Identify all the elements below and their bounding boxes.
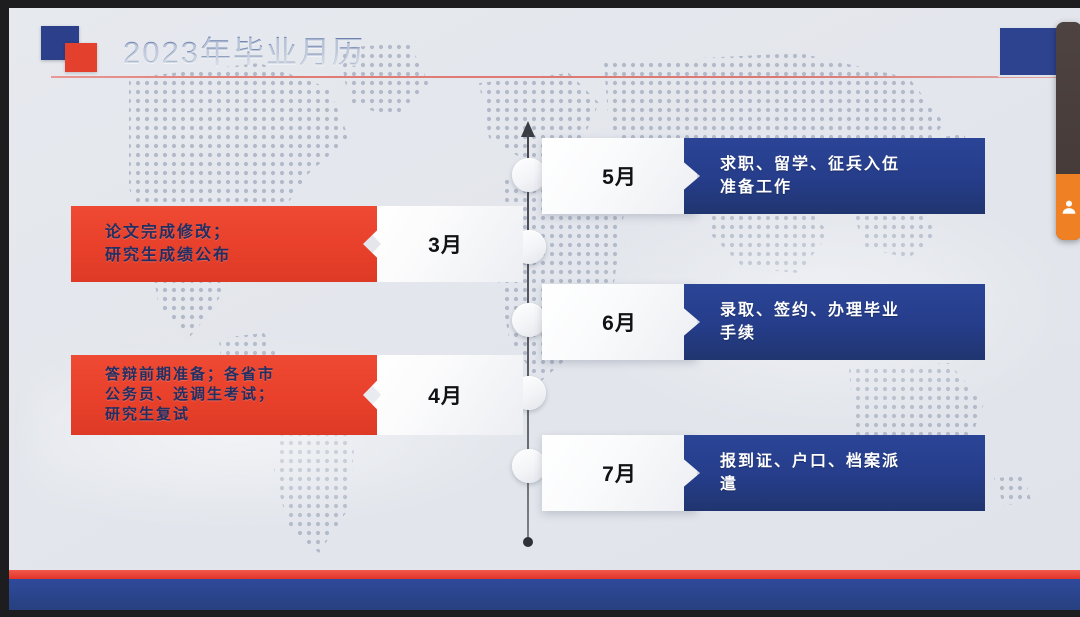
- month-text: 6月: [542, 284, 697, 360]
- entry-line: 研究生复试: [105, 405, 377, 425]
- entry-line: 准备工作: [720, 176, 985, 199]
- month-label-march: 3月: [368, 206, 523, 282]
- axis-end-dot: [523, 537, 533, 547]
- month-text: 3月: [428, 229, 463, 259]
- logo-red-square: [65, 43, 97, 72]
- entry-line: 手续: [720, 322, 985, 345]
- timeline-node: [512, 158, 546, 192]
- entry-line: 录取、签约、办理毕业: [720, 299, 985, 322]
- entry-line: 报到证、户口、档案派: [720, 450, 985, 473]
- timeline-entry-june[interactable]: 6月 录取、签约、办理毕业 手续: [542, 284, 985, 360]
- month-label-may: 5月: [542, 138, 697, 214]
- entry-line: 答辩前期准备；各省市: [105, 365, 377, 385]
- timeline-entry-april[interactable]: 4月 答辩前期准备；各省市 公务员、选调生考试； 研究生复试: [71, 355, 523, 435]
- month-label-july: 7月: [542, 435, 697, 511]
- header-divider: [51, 76, 1080, 78]
- overlay-avatar[interactable]: [1056, 174, 1080, 240]
- video-frame: 2023年毕业月历 5月 求职、留学、征兵入伍 准备工作: [0, 0, 1080, 617]
- participant-overlay-panel[interactable]: [1056, 22, 1080, 240]
- entry-line: 求职、留学、征兵入伍: [720, 153, 985, 176]
- timeline-node: [512, 449, 546, 483]
- month-text: 7月: [542, 435, 697, 511]
- slide-header: 2023年毕业月历: [9, 8, 1080, 78]
- entry-body-june: 录取、签约、办理毕业 手续: [684, 284, 985, 360]
- entry-body-march: 论文完成修改； 研究生成绩公布: [71, 206, 377, 282]
- entry-line: 公务员、选调生考试；: [105, 385, 377, 405]
- timeline-entry-july[interactable]: 7月 报到证、户口、档案派 遣: [542, 435, 985, 511]
- presentation-slide: 2023年毕业月历 5月 求职、留学、征兵入伍 准备工作: [9, 8, 1080, 610]
- timeline-entry-may[interactable]: 5月 求职、留学、征兵入伍 准备工作: [542, 138, 985, 214]
- person-icon: [1060, 198, 1078, 216]
- entry-body-july: 报到证、户口、档案派 遣: [684, 435, 985, 511]
- month-label-april: 4月: [368, 355, 523, 435]
- overlay-video-area: [1056, 22, 1080, 174]
- frame-bottom: [0, 610, 1080, 617]
- entry-line: 研究生成绩公布: [105, 244, 377, 267]
- entry-line: 遣: [720, 473, 985, 496]
- timeline-entry-march[interactable]: 3月 论文完成修改； 研究生成绩公布: [71, 206, 523, 282]
- timeline-node: [512, 303, 546, 337]
- month-text: 5月: [542, 138, 697, 214]
- page-title: 2023年毕业月历: [123, 27, 365, 72]
- frame-top: [0, 0, 1080, 8]
- footer-blue-bar: [9, 579, 1080, 610]
- entry-body-april: 答辩前期准备；各省市 公务员、选调生考试； 研究生复试: [71, 355, 377, 435]
- entry-line: 论文完成修改；: [105, 221, 377, 244]
- footer-red-bar: [9, 570, 1080, 579]
- month-text: 4月: [428, 380, 463, 410]
- frame-left: [0, 0, 9, 617]
- month-label-june: 6月: [542, 284, 697, 360]
- logo: [41, 26, 99, 72]
- entry-body-may: 求职、留学、征兵入伍 准备工作: [684, 138, 985, 214]
